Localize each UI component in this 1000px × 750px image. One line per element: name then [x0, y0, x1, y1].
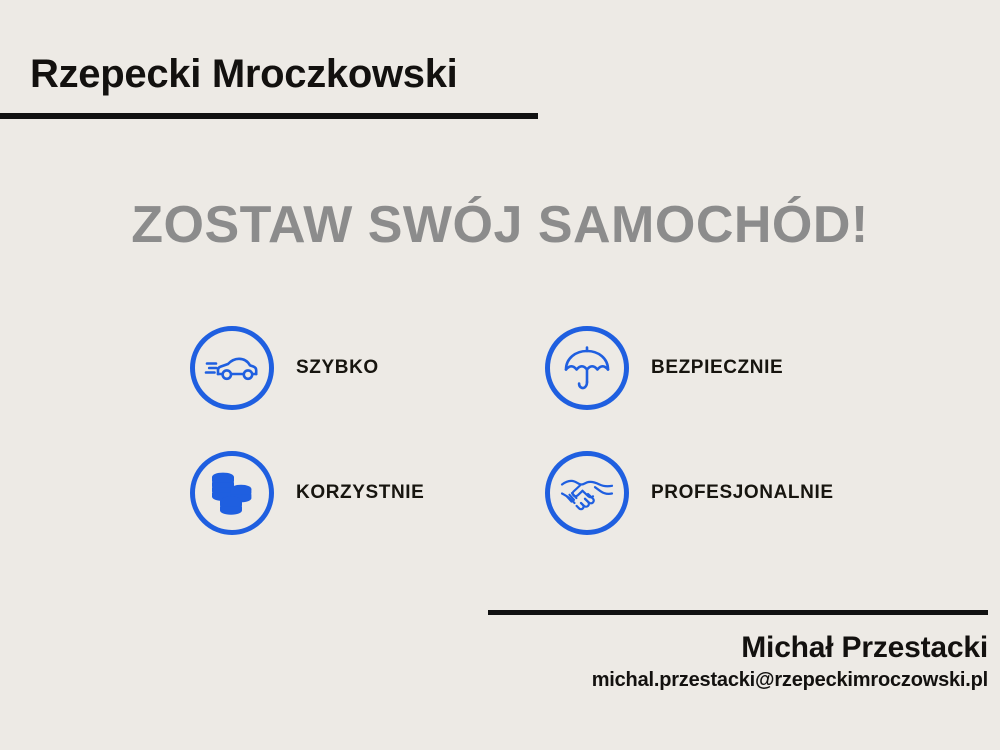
- handshake-icon: [545, 451, 629, 535]
- feature-label: SZYBKO: [296, 357, 379, 379]
- feature-grid: SZYBKO BEZPIECZNIE: [190, 305, 890, 555]
- feature-label: PROFESJONALNIE: [651, 482, 834, 504]
- coins-icon: [190, 451, 274, 535]
- feature-item-szybko: SZYBKO: [190, 305, 545, 430]
- feature-label: KORZYSTNIE: [296, 482, 424, 504]
- feature-label: BEZPIECZNIE: [651, 357, 783, 379]
- page-headline: ZOSTAW SWÓJ SAMOCHÓD!: [0, 198, 1000, 253]
- feature-item-profesjonalnie: PROFESJONALNIE: [545, 430, 890, 555]
- slide-root: Rzepecki Mroczkowski ZOSTAW SWÓJ SAMOCHÓ…: [0, 0, 1000, 750]
- car-icon: [190, 326, 274, 410]
- umbrella-icon: [545, 326, 629, 410]
- feature-item-bezpiecznie: BEZPIECZNIE: [545, 305, 890, 430]
- contact-email[interactable]: michal.przestacki@rzepeckimroczowski.pl: [488, 669, 988, 692]
- footer-divider: [488, 610, 988, 615]
- contact-name: Michał Przestacki: [488, 631, 988, 666]
- footer-contact: Michał Przestacki michal.przestacki@rzep…: [488, 610, 988, 693]
- feature-item-korzystnie: KORZYSTNIE: [190, 430, 545, 555]
- header: Rzepecki Mroczkowski: [0, 52, 560, 119]
- header-divider: [0, 113, 538, 119]
- brand-title: Rzepecki Mroczkowski: [0, 52, 560, 96]
